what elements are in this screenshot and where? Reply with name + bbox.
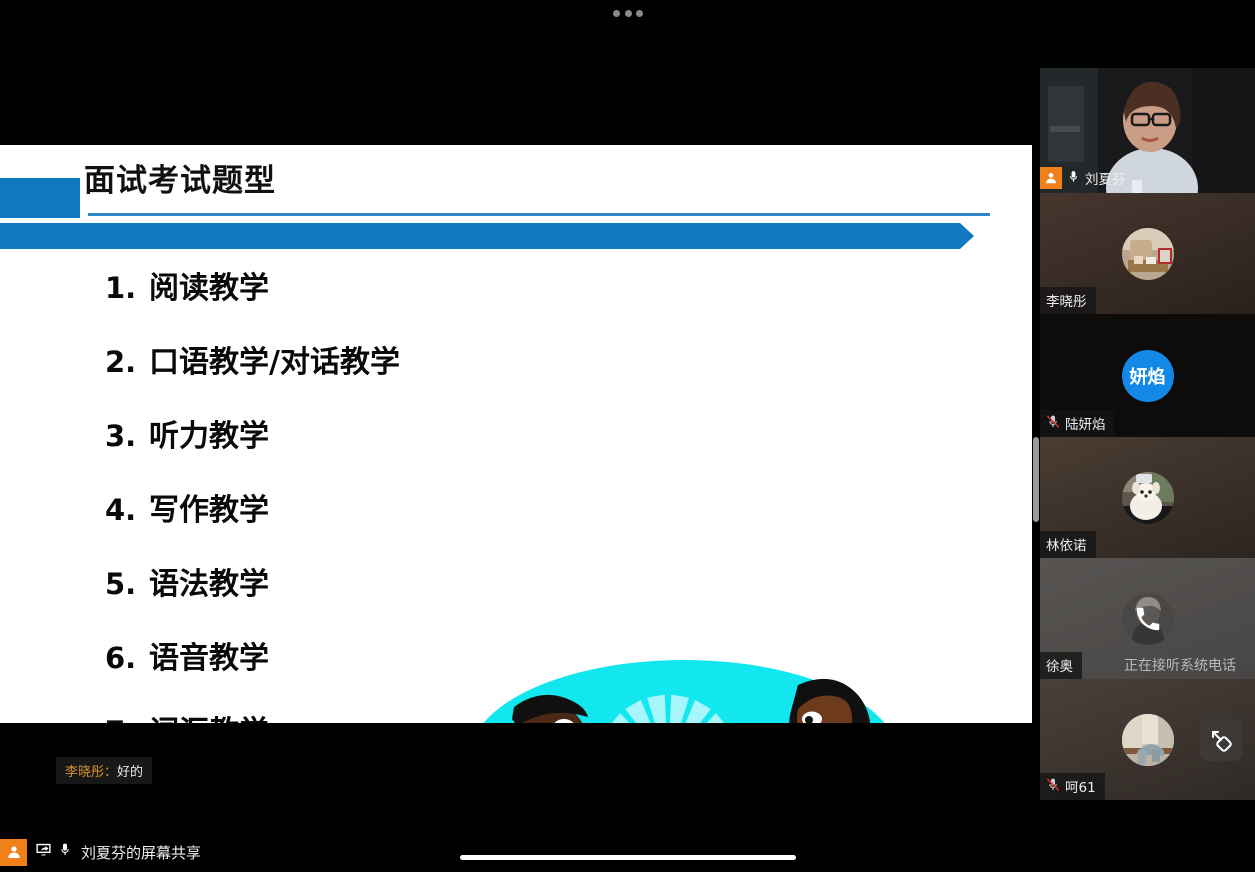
slide-title-rule (88, 213, 990, 216)
phone-call-icon (1122, 593, 1174, 645)
list-item: 4. 写作教学 (105, 485, 665, 529)
avatar-photo (1122, 472, 1174, 524)
two-people-passing-block-clipart (468, 657, 900, 723)
slide-title: 面试考试题型 (84, 155, 276, 200)
chat-message-text: 好的 (117, 765, 143, 780)
microphone-muted-icon (1046, 777, 1060, 796)
host-person-icon (0, 839, 27, 866)
chat-message-bubble: 李晓彤：好的 (56, 757, 152, 784)
microphone-icon (58, 841, 72, 863)
list-item-label: 听力教学 (149, 411, 269, 455)
slide-band (0, 223, 960, 249)
microphone-icon (1067, 169, 1080, 188)
list-item-label: 语法教学 (149, 559, 269, 603)
chat-sender-name: 李晓彤： (65, 765, 117, 780)
bottom-status-bar: 刘夏芬的屏幕共享 (0, 832, 1040, 872)
avatar: 妍焰 (1122, 350, 1174, 402)
list-item-number: 7. (105, 715, 149, 723)
participant-name: 徐奥 (1046, 655, 1073, 675)
participant-name-chip: 林依诺 (1040, 531, 1096, 558)
shared-screen-stage[interactable]: 面试考试题型 1. 阅读教学 2. 口语教学/对话教学 3. 听力教学 4. 写… (0, 145, 1032, 723)
participant-rail[interactable]: 刘夏芬 李晓彤 (1040, 68, 1255, 800)
participant-name-chip: 李晓彤 (1040, 287, 1096, 314)
list-item-label: 口语教学/对话教学 (149, 337, 400, 381)
slide-accent-rectangle (0, 178, 80, 218)
microphone-muted-icon (1046, 414, 1060, 433)
participant-name-chip: 刘夏芬 (1040, 164, 1135, 193)
rotate-device-icon[interactable] (1200, 719, 1242, 761)
participant-tile[interactable]: 徐奥 正在接听系统电话 (1040, 558, 1255, 679)
participant-name: 陆妍焰 (1065, 413, 1106, 433)
avatar (1122, 714, 1174, 766)
participant-name: 刘夏芬 (1085, 168, 1126, 188)
list-item-label: 词汇教学 (149, 707, 269, 723)
avatar-initials: 妍焰 (1130, 363, 1166, 389)
list-item: 1. 阅读教学 (105, 263, 665, 307)
participant-name: 李晓彤 (1046, 290, 1087, 310)
list-item-number: 5. (105, 567, 149, 601)
list-item-number: 6. (105, 641, 149, 675)
slide-topic-list: 1. 阅读教学 2. 口语教学/对话教学 3. 听力教学 4. 写作教学 5. … (105, 263, 665, 723)
screen-share-label: 刘夏芬的屏幕共享 (81, 842, 201, 863)
avatar (1122, 228, 1174, 280)
more-dots-icon[interactable] (613, 7, 643, 19)
home-indicator-bar[interactable] (460, 855, 796, 860)
list-item-number: 4. (105, 493, 149, 527)
list-item-label: 写作教学 (149, 485, 269, 529)
meeting-screen: 面试考试题型 1. 阅读教学 2. 口语教学/对话教学 3. 听力教学 4. 写… (0, 0, 1255, 872)
participant-name-chip: 徐奥 (1040, 652, 1082, 679)
participant-tile[interactable]: 林依诺 (1040, 437, 1255, 558)
participant-tile[interactable]: 妍焰 陆妍焰 (1040, 314, 1255, 437)
avatar (1122, 472, 1174, 524)
list-item-label: 语音教学 (149, 633, 269, 677)
scrollbar-thumb[interactable] (1033, 437, 1039, 522)
avatar-photo (1122, 714, 1174, 766)
list-item: 3. 听力教学 (105, 411, 665, 455)
participant-name-chip: 呵61 (1040, 773, 1105, 800)
list-item: 5. 语法教学 (105, 559, 665, 603)
avatar-photo (1122, 228, 1174, 280)
screen-share-icon (35, 841, 52, 863)
list-item-number: 3. (105, 419, 149, 453)
list-item-number: 1. (105, 271, 149, 305)
participant-name-chip: 陆妍焰 (1040, 410, 1115, 437)
participant-name: 呵61 (1065, 776, 1096, 796)
list-item-label: 阅读教学 (149, 263, 269, 307)
list-item-number: 2. (105, 345, 149, 379)
slide-band-arrow-icon (960, 223, 974, 249)
participant-tile[interactable]: 呵61 (1040, 679, 1255, 800)
participant-tile[interactable]: 李晓彤 (1040, 193, 1255, 314)
host-person-icon (1040, 167, 1062, 189)
list-item: 2. 口语教学/对话教学 (105, 337, 665, 381)
participant-tile-host[interactable]: 刘夏芬 (1040, 68, 1255, 193)
participant-status-text: 正在接听系统电话 (1124, 655, 1236, 675)
participant-name: 林依诺 (1046, 534, 1087, 554)
